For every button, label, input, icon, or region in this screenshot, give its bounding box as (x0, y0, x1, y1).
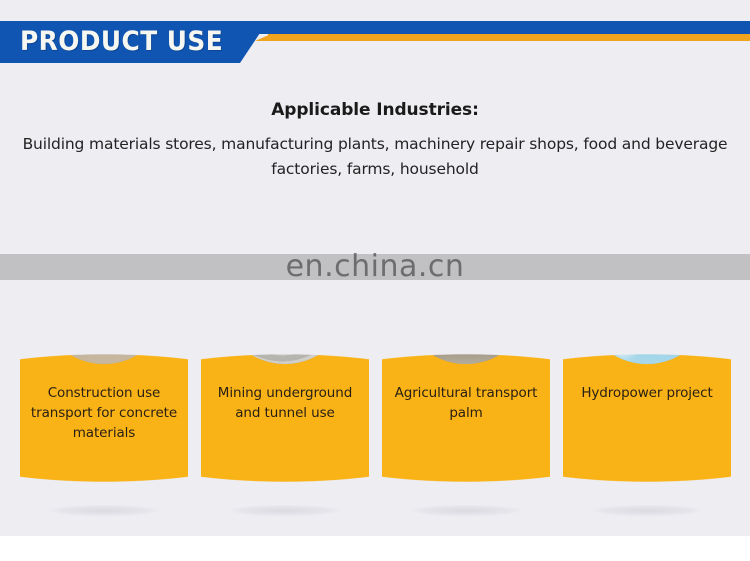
card-shadow (49, 505, 159, 516)
banner-orange-strip (268, 34, 750, 41)
card-shadow (230, 505, 340, 516)
industry-card-mining[interactable]: Mining underground and tunnel use (201, 211, 369, 482)
card-caption: Hydropower project (569, 383, 725, 403)
intro-heading: Applicable Industries: (0, 100, 750, 120)
card-shadow (592, 505, 702, 516)
palm-harvest-photo (400, 232, 532, 364)
industry-card-construction[interactable]: Construction use transport for concrete … (20, 211, 188, 482)
industry-card-agricultural[interactable]: Agricultural transport palm (382, 211, 550, 482)
slide-panel: PRODUCT USE Applicable Industries: Build… (0, 0, 750, 536)
construction-site-photo (38, 232, 170, 364)
industry-card-hydropower[interactable]: Hydropower project (563, 211, 731, 482)
header-banner: PRODUCT USE (0, 0, 750, 72)
intro-section: Applicable Industries: Building material… (0, 100, 750, 182)
product-use-slide: PRODUCT USE Applicable Industries: Build… (0, 0, 750, 561)
page-title: PRODUCT USE (20, 24, 223, 60)
card-caption: Mining underground and tunnel use (207, 383, 363, 423)
hydropower-spillway-photo (581, 232, 713, 364)
card-shadow (411, 505, 521, 516)
mining-tunnel-photo (219, 232, 351, 364)
card-caption: Agricultural transport palm (388, 383, 544, 423)
card-caption: Construction use transport for concrete … (26, 383, 182, 443)
industry-cards: Construction use transport for concrete … (20, 211, 731, 491)
intro-body: Building materials stores, manufacturing… (22, 132, 728, 182)
